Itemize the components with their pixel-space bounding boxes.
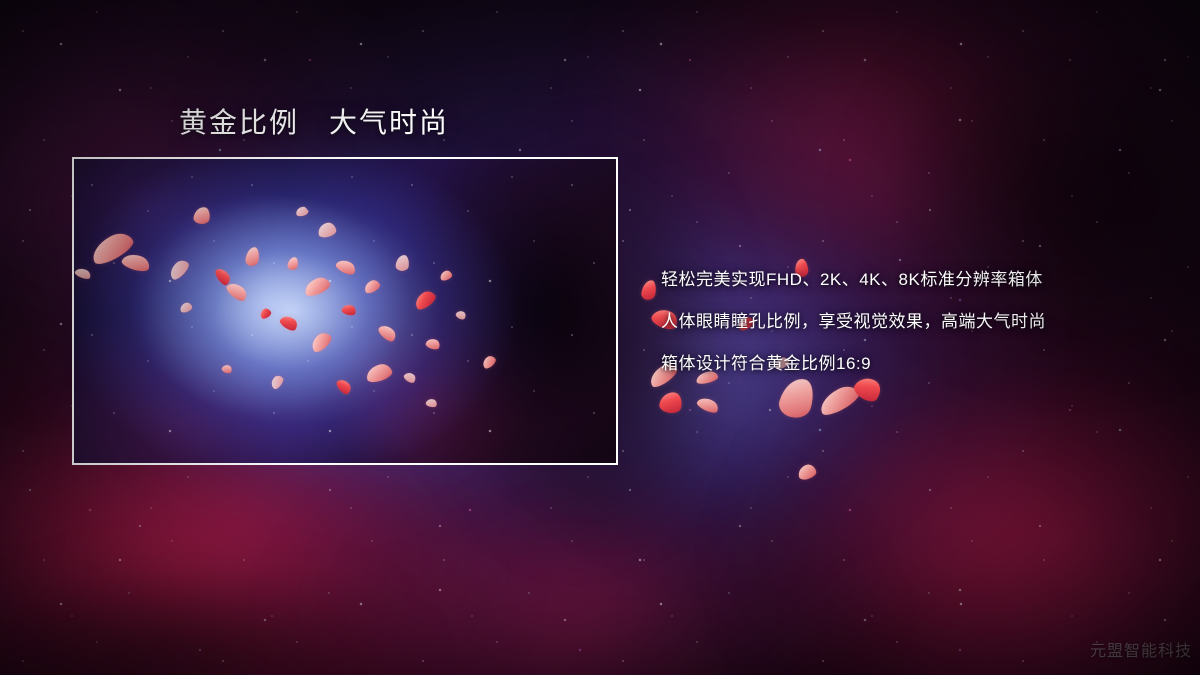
slide-canvas: 黄金比例 大气时尚 轻松完美实现FHD、2K、4K、8K标准分辨率箱体 人体眼睛… bbox=[0, 0, 1200, 675]
framed-preview-image bbox=[72, 157, 618, 465]
watermark: 元盟智能科技 bbox=[1090, 637, 1192, 661]
body-line-1: 轻松完美实现FHD、2K、4K、8K标准分辨率箱体 bbox=[661, 259, 1161, 301]
body-text-block: 轻松完美实现FHD、2K、4K、8K标准分辨率箱体 人体眼睛瞳孔比例，享受视觉效… bbox=[661, 259, 1161, 385]
body-line-2: 人体眼睛瞳孔比例，享受视觉效果，高端大气时尚 bbox=[661, 301, 1161, 343]
body-line-3: 箱体设计符合黄金比例16:9 bbox=[661, 343, 1161, 385]
page-title: 黄金比例 大气时尚 bbox=[179, 101, 449, 141]
